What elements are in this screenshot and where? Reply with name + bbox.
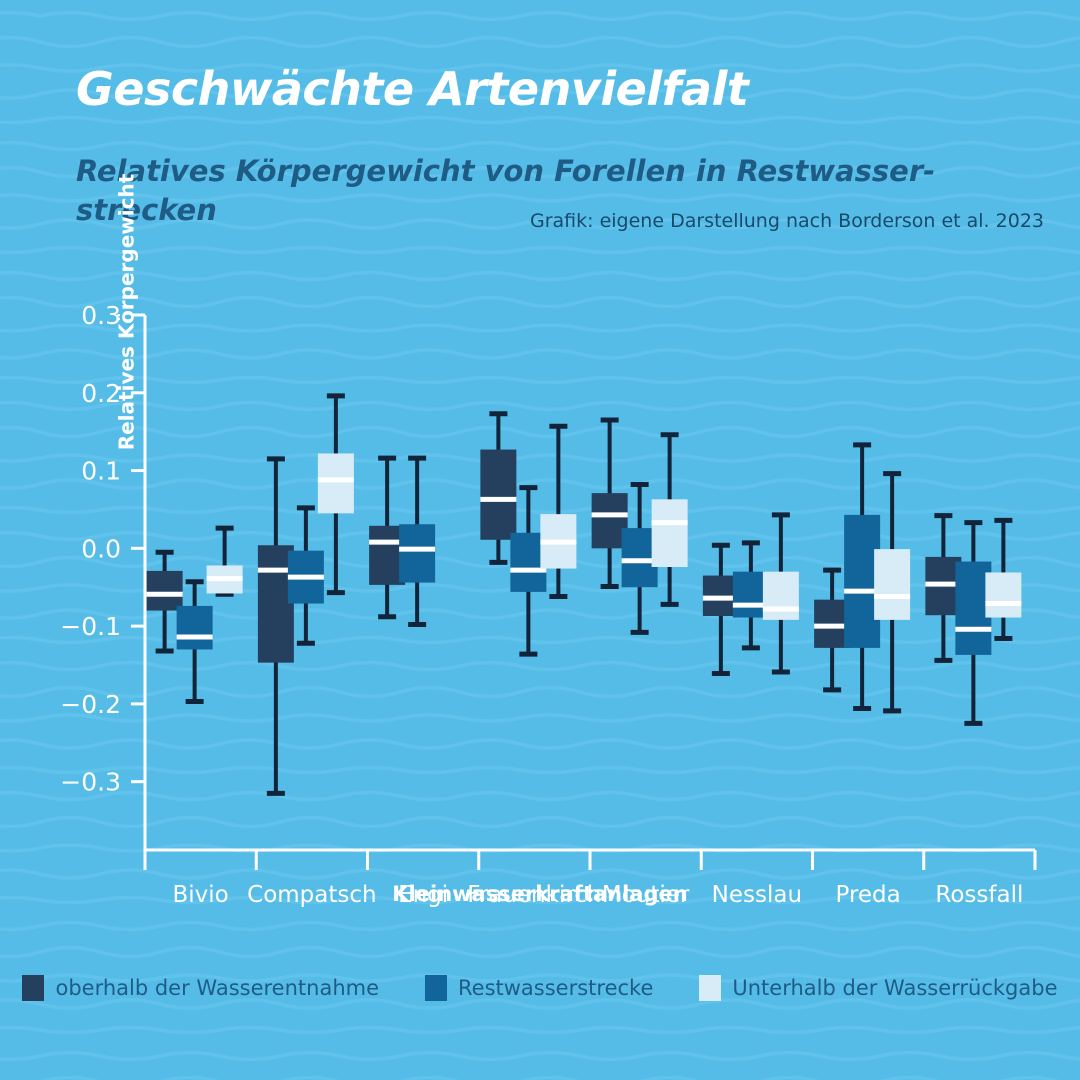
legend-color-swatch: [699, 975, 721, 1001]
chart-legend: oberhalb der WasserentnahmeRestwasserstr…: [0, 975, 1080, 1001]
boxplot-box: [955, 523, 991, 724]
legend-color-swatch: [425, 975, 447, 1001]
boxplot-box: [763, 515, 799, 672]
legend-item-label: Unterhalb der Wasserrückgabe: [732, 976, 1057, 1000]
box-iqr: [480, 450, 516, 540]
box-iqr: [763, 572, 799, 620]
box-iqr: [985, 572, 1021, 617]
box-iqr: [177, 606, 213, 650]
y-axis-tick-label: −0.3: [60, 768, 121, 797]
boxplot-box: [207, 528, 243, 594]
legend-item[interactable]: Unterhalb der Wasserrückgabe: [699, 975, 1057, 1001]
box-iqr: [874, 549, 910, 620]
page-title: Geschwächte Artenvielfalt: [76, 62, 748, 116]
legend-item-label: oberhalb der Wasserentnahme: [55, 976, 379, 1000]
legend-item-label: Restwasserstrecke: [458, 976, 653, 1000]
box-iqr: [399, 524, 435, 582]
box-iqr: [147, 571, 183, 611]
y-axis-tick-label: −0.2: [60, 690, 121, 719]
box-iqr: [652, 499, 688, 567]
y-axis-tick-label: 0.1: [81, 457, 121, 486]
y-axis-tick-label: 0.0: [81, 534, 121, 563]
x-axis-title: Kleinwasserkraftanlagen: [0, 882, 1080, 906]
boxplot-box: [874, 474, 910, 711]
boxplot-chart: 0.30.20.10.0−0.1−0.2−0.3BivioCompatschEn…: [0, 280, 1080, 940]
legend-item[interactable]: oberhalb der Wasserentnahme: [22, 975, 379, 1001]
boxplot-box: [258, 459, 294, 793]
box-iqr: [318, 453, 354, 513]
chart-credit: Grafik: eigene Darstellung nach Borderso…: [530, 210, 1044, 232]
legend-item[interactable]: Restwasserstrecke: [425, 975, 653, 1001]
y-axis-tick-label: 0.2: [81, 379, 121, 408]
y-axis-tick-label: 0.3: [81, 301, 121, 330]
boxplot-box: [399, 458, 435, 624]
legend-color-swatch: [22, 975, 44, 1001]
y-axis-tick-label: −0.1: [60, 612, 121, 641]
